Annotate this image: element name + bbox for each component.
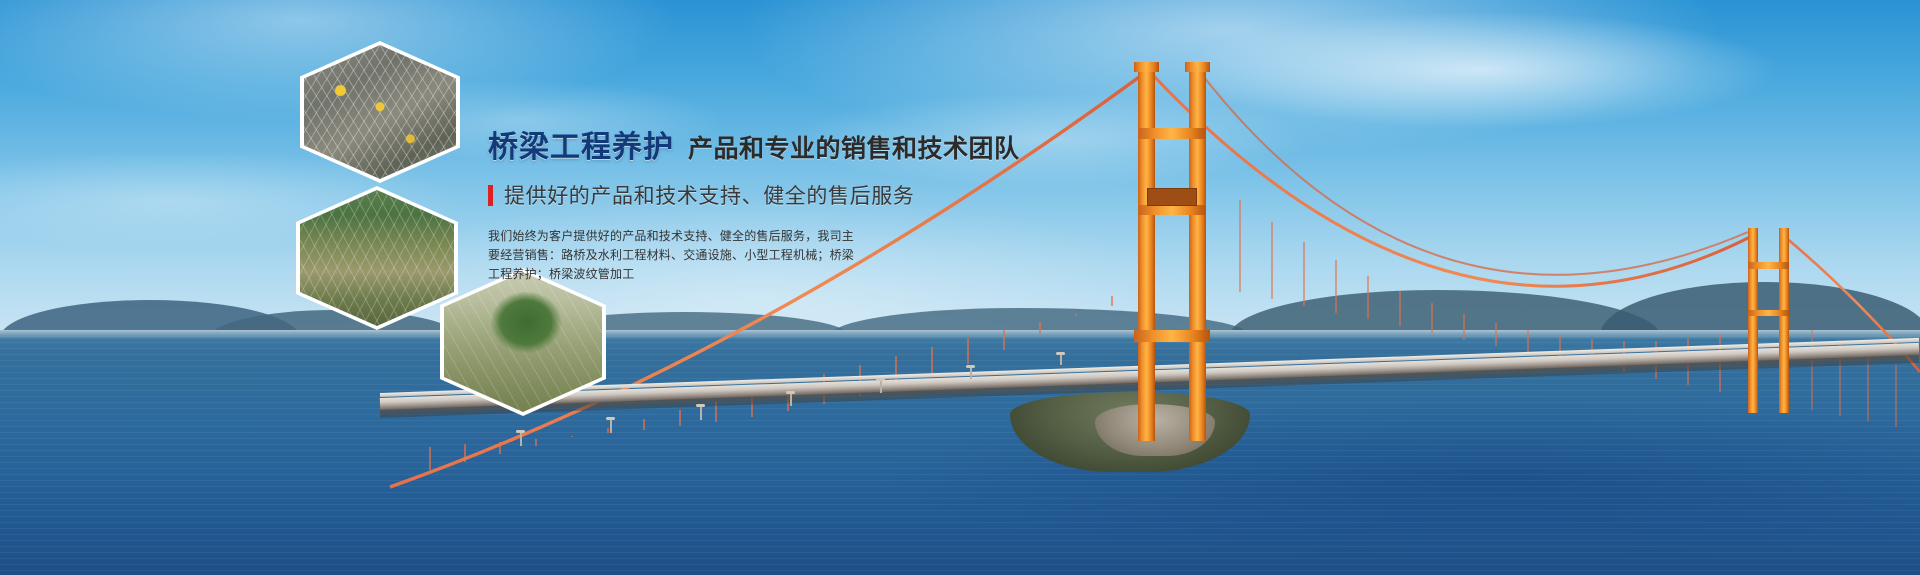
deck-lamp-head <box>966 365 975 368</box>
deck-lamp-post <box>700 406 702 420</box>
deck-lamp-post <box>970 367 972 379</box>
headline-secondary: 产品和专业的销售和技术团队 <box>688 129 1020 165</box>
deck-lamp-head <box>876 378 885 381</box>
banner-copy: 桥梁工程养护 产品和专业的销售和技术团队 提供好的产品和技术支持、健全的售后服务… <box>488 122 1048 284</box>
deck-lamp-head <box>696 404 705 407</box>
deck-lamp-post <box>1060 354 1062 365</box>
deck-lamp-post <box>880 380 882 393</box>
bridge-tower-sign <box>1147 188 1197 206</box>
bridge-tower-crossbeam <box>1748 310 1789 316</box>
bridge-tower-primary-left-leg <box>1138 66 1155 441</box>
subheadline-row: 提供好的产品和技术支持、健全的售后服务 <box>488 180 1048 210</box>
headline-primary: 桥梁工程养护 <box>488 122 674 166</box>
subheadline: 提供好的产品和技术支持、健全的售后服务 <box>504 180 914 210</box>
bridge-tower-secondary-right-leg <box>1779 228 1789 413</box>
bridge-tower-primary-right-leg <box>1189 66 1206 441</box>
banner-body-text: 我们始终为客户提供好的产品和技术支持、健全的售后服务，我司主要经营销售：路桥及水… <box>488 227 858 284</box>
deck-lamp-head <box>1056 352 1065 355</box>
bridge-tower-cap <box>1185 62 1210 72</box>
bridge-tower-crossbeam <box>1134 330 1210 342</box>
bridge-tower-crossbeam <box>1748 262 1789 269</box>
bridge-tower-crossbeam <box>1138 128 1206 139</box>
headline-row: 桥梁工程养护 产品和专业的销售和技术团队 <box>488 122 1048 166</box>
bridge-tower-crossbeam <box>1138 205 1206 215</box>
accent-bar-icon <box>488 185 493 206</box>
bridge-tower-secondary-left-leg <box>1748 228 1758 413</box>
bridge-tower-cap <box>1134 62 1159 72</box>
hero-banner: 桥梁工程养护 产品和专业的销售和技术团队 提供好的产品和技术支持、健全的售后服务… <box>0 0 1920 575</box>
deck-lamp-post <box>790 393 792 406</box>
deck-lamp-head <box>786 391 795 394</box>
